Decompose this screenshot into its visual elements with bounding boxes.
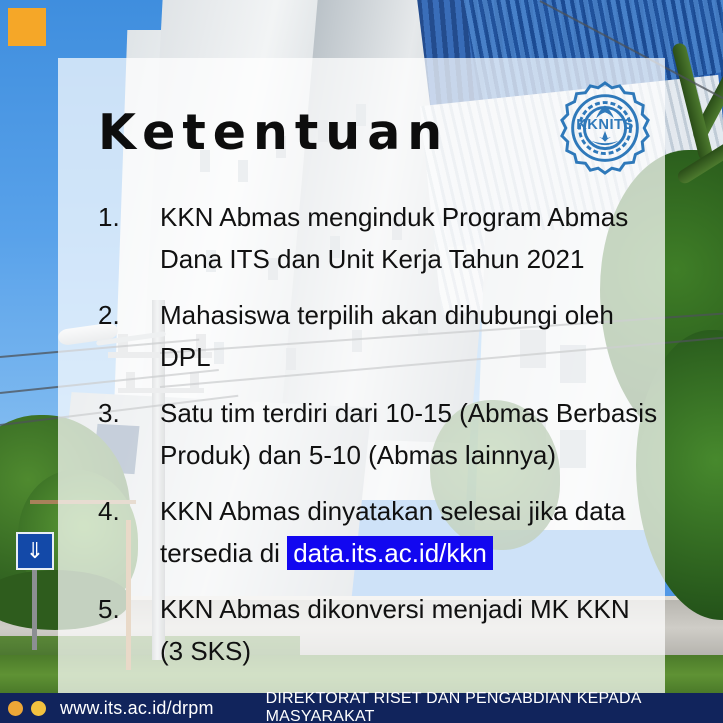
dot-yellow-icon (31, 701, 46, 716)
footer-website-url[interactable]: www.its.ac.id/drpm (60, 698, 214, 719)
list-item-text: KKN Abmas dinyatakan selesai jika data t… (160, 490, 658, 574)
list-item-number: 1. (98, 196, 160, 280)
footer-organization-name: DIREKTORAT RISET DAN PENGABDIAN KEPADA M… (266, 690, 723, 723)
list-item: 1. KKN Abmas menginduk Program Abmas Dan… (98, 196, 658, 280)
list-item: 3. Satu tim terdiri dari 10-15 (Abmas Be… (98, 392, 658, 476)
road-sign-post (32, 560, 37, 650)
list-item-text: KKN Abmas dikonversi menjadi MK KKN (3 S… (160, 588, 658, 672)
orange-square-accent (8, 8, 46, 46)
poster-canvas: ⇓ KKNITS Ketentuan (0, 0, 723, 723)
list-item-number: 4. (98, 490, 160, 574)
list-item-number: 3. (98, 392, 160, 476)
page-title: Ketentuan (98, 104, 449, 161)
list-item: 2. Mahasiswa terpilih akan dihubungi ole… (98, 294, 658, 378)
data-portal-link[interactable]: data.its.ac.id/kkn (287, 536, 493, 570)
list-item: 4. KKN Abmas dinyatakan selesai jika dat… (98, 490, 658, 574)
requirements-list: 1. KKN Abmas menginduk Program Abmas Dan… (98, 196, 658, 686)
list-item: 5. KKN Abmas dikonversi menjadi MK KKN (… (98, 588, 658, 672)
svg-text:KKNITS: KKNITS (576, 117, 634, 133)
arrow-down-icon: ⇓ (18, 534, 52, 568)
list-item-text: Mahasiswa terpilih akan dihubungi oleh D… (160, 294, 658, 378)
road-sign: ⇓ (16, 532, 54, 570)
kkn-its-logo-icon: KKNITS (556, 80, 654, 178)
list-item-text: Satu tim terdiri dari 10-15 (Abmas Berba… (160, 392, 658, 476)
list-item-text: KKN Abmas menginduk Program Abmas Dana I… (160, 196, 658, 280)
footer-bar: www.its.ac.id/drpm DIREKTORAT RISET DAN … (0, 693, 723, 723)
dot-orange-icon (8, 701, 23, 716)
list-item-number: 5. (98, 588, 160, 672)
list-item-number: 2. (98, 294, 160, 378)
